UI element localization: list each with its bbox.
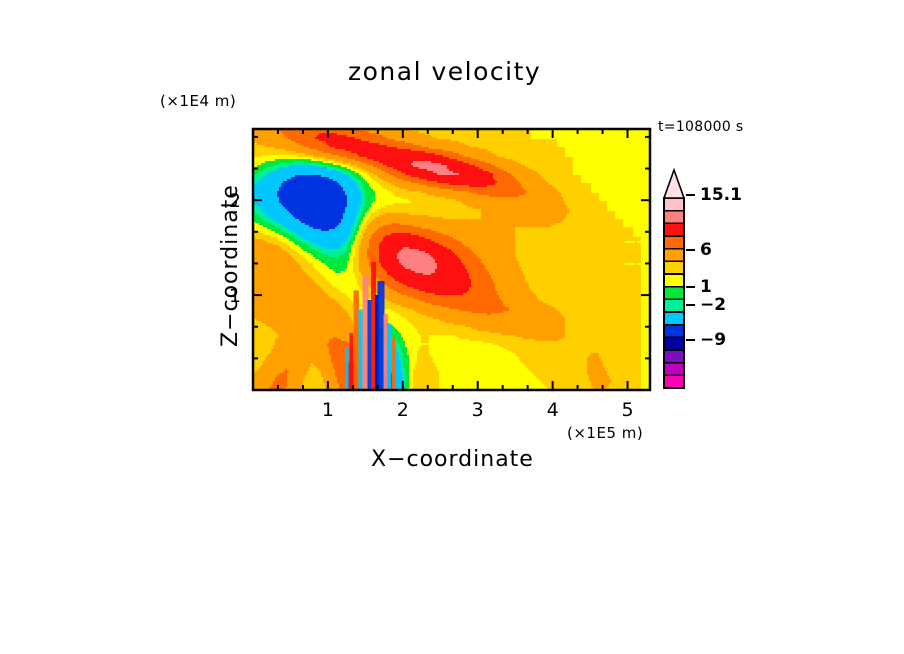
figure-canvas: zonal velocity (×1E4 m) (×1E5 m) t=10800… <box>0 0 904 654</box>
contour-plot: 123451215.161−2−9 <box>0 0 904 654</box>
